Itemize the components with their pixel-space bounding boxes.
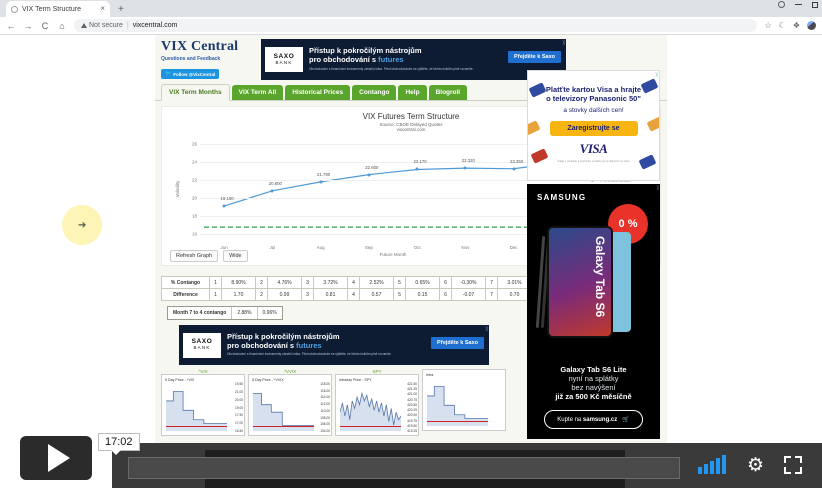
- month-index-cell: 7: [486, 277, 498, 289]
- y-axis-tick: 22: [192, 178, 197, 183]
- mini-chart-plot: [427, 379, 488, 426]
- data-point-label: 19.100: [221, 196, 234, 201]
- data-point-label: 23.170: [414, 159, 427, 164]
- close-icon[interactable]: ╳: [656, 72, 658, 77]
- mini-chart-y-tick: 19.50: [235, 382, 243, 386]
- mini-chart-y-axis: [488, 379, 504, 426]
- value-cell: -0.30%: [452, 277, 486, 289]
- table-row: % Contango18.90%24.76%33.72%42.52%50.65%…: [162, 277, 544, 289]
- tab-vix-term-months[interactable]: VIX Term Months: [161, 84, 230, 101]
- mini-chart-y-tick: 419.50: [407, 424, 417, 428]
- month-index-cell: 3: [302, 289, 314, 301]
- site-subtitle: Questions and Feedback: [161, 56, 255, 62]
- maximize-icon[interactable]: [812, 2, 818, 8]
- refresh-graph-button[interactable]: Refresh Graph: [170, 250, 218, 262]
- warning-triangle-icon: [81, 23, 87, 28]
- saxo-line2-prefix: pro obchodování s: [227, 341, 296, 350]
- mini-chart-box: Intra: [422, 369, 506, 431]
- samsung-line1: Galaxy Tab S6 Lite: [527, 365, 660, 374]
- mini-chart-plot: [340, 384, 401, 431]
- month-index-cell: 2: [256, 289, 268, 301]
- reload-icon[interactable]: C: [40, 21, 50, 31]
- row-header: % Contango: [162, 277, 210, 289]
- close-icon[interactable]: ╳: [486, 326, 488, 331]
- saxo-cta-button[interactable]: Přejděte k Saxo: [431, 337, 484, 349]
- data-point-label: 20.800: [269, 181, 282, 186]
- saxo-top-banner-ad[interactable]: ╳ SAXO BANK Přístup k pokročilým nástroj…: [261, 39, 566, 80]
- forward-icon[interactable]: →: [23, 21, 33, 31]
- saxo-logo-bottom: BANK: [193, 346, 210, 351]
- avatar[interactable]: [807, 21, 816, 30]
- saxo-logo: SAXO BANK: [183, 333, 221, 358]
- close-icon[interactable]: ╳: [563, 40, 565, 45]
- settings-dot-icon[interactable]: [778, 1, 785, 8]
- data-point[interactable]: [512, 167, 515, 170]
- value-cell: 0.57: [360, 289, 394, 301]
- minimize-icon[interactable]: [795, 4, 802, 5]
- saxo-logo-bottom: BANK: [275, 61, 292, 66]
- data-point-label: 22.600: [365, 165, 378, 170]
- month-index-cell: 1: [210, 277, 222, 289]
- video-timestamp: 17:02: [98, 433, 140, 451]
- dark-mode-icon[interactable]: ☾: [779, 21, 786, 30]
- data-point[interactable]: [271, 189, 274, 192]
- mini-chart-y-tick: 21.00: [235, 390, 243, 394]
- x-axis-tick: Dec: [510, 245, 518, 250]
- saxo-line2: pro obchodování s futures: [309, 56, 524, 65]
- samsung-cta-label: Kupte na samsung.cz: [557, 417, 617, 423]
- data-point[interactable]: [416, 168, 419, 171]
- visa-card-decoration: [527, 120, 540, 135]
- table-row: Difference11.7020.9930.8140.5750.156-0.0…: [162, 289, 544, 301]
- fullscreen-icon[interactable]: [784, 456, 802, 474]
- x-axis-tick: Aug: [317, 245, 325, 250]
- mini-chart-y-tick: 19.00: [235, 406, 243, 410]
- visa-ad[interactable]: ╳ Platťte kartou Visa a hrajte o televiz…: [527, 70, 660, 181]
- data-point-label: 23.320: [462, 158, 475, 163]
- value-cell: 0.65%: [406, 277, 440, 289]
- mini-chart-y-tick: 110.00: [320, 409, 330, 413]
- mini-chart[interactable]: ^VIX5 Day Price - ^VIX19.5021.0020.0019.…: [161, 369, 245, 436]
- tab-vix-term-all[interactable]: VIX Term All: [232, 85, 284, 100]
- value-cell: 2.52%: [360, 277, 394, 289]
- month-index-cell: 7: [486, 289, 498, 301]
- product-name-rotated: Galaxy Tab S6: [593, 236, 607, 317]
- saxo-cta-button[interactable]: Přejděte k Saxo: [508, 51, 561, 63]
- tab-historical-prices[interactable]: Historical Prices: [285, 85, 350, 100]
- value-cell: 8.90%: [222, 277, 256, 289]
- value-cell: 0.15: [406, 289, 440, 301]
- twitter-bird-icon: 🐦: [165, 71, 171, 77]
- mini-chart-y-axis: 19.5021.0020.0019.0017.5017.0016.50: [227, 384, 243, 431]
- month-index-cell: 4: [348, 277, 360, 289]
- value-cell: 4.76%: [268, 277, 302, 289]
- mini-chart-y-tick: 420.50: [407, 403, 417, 407]
- month-index-cell: 5: [394, 277, 406, 289]
- mini-chart-box: 5 Day Price - ^VVIX118.00116.00114.00112…: [248, 374, 332, 436]
- extensions-icon[interactable]: ❖: [793, 21, 800, 30]
- mini-chart-reference-line: [166, 426, 227, 427]
- saxo-disclaimer: Obchodování s finančními instrumenty obn…: [227, 353, 442, 357]
- browser-toolbar: ← → C ⌂ Not secure | vixcentral.com ☆ ☾ …: [0, 17, 822, 35]
- saxo-line2-prefix: pro obchodování s: [309, 55, 378, 64]
- data-point[interactable]: [223, 205, 226, 208]
- month-index-cell: 1: [210, 289, 222, 301]
- browser-tabstrip: VIX Term Structure × +: [0, 0, 822, 17]
- mini-chart-y-tick: 17.00: [235, 421, 243, 425]
- value-cell: 1.70: [222, 289, 256, 301]
- mini-chart-y-tick: 106.00: [320, 422, 330, 426]
- mini-chart[interactable]: ^VVIX5 Day Price - ^VVIX118.00116.00114.…: [248, 369, 332, 436]
- browser-tab[interactable]: VIX Term Structure ×: [6, 1, 110, 17]
- value-cell: 0.81: [314, 289, 348, 301]
- y-axis-tick: 18: [192, 214, 197, 219]
- month-7to4-label: Month 7 to 4 contango: [168, 307, 232, 319]
- omnibox-separator: |: [127, 22, 129, 29]
- month-7to4-value-1: 2.88%: [232, 307, 257, 319]
- mini-chart-y-tick: 421.25: [407, 387, 417, 391]
- close-icon[interactable]: ╳: [657, 185, 659, 190]
- y-axis-tick: 24: [192, 160, 197, 165]
- y-axis-tick: 20: [192, 196, 197, 201]
- mini-chart-plot: [253, 384, 314, 431]
- contango-table: % Contango18.90%24.76%33.72%42.52%50.65%…: [161, 276, 544, 301]
- x-axis-label: Future Month: [380, 252, 407, 257]
- new-tab-button[interactable]: +: [118, 4, 124, 15]
- right-ad-rail: ╳ Platťte kartou Visa a hrajte o televiz…: [527, 70, 660, 439]
- tab-title: VIX Term Structure: [22, 6, 96, 13]
- mini-chart-y-tick: 420.25: [407, 408, 417, 412]
- saxo-ad-copy: Přístup k pokročilým nástrojům pro obcho…: [309, 47, 524, 71]
- month-index-cell: 5: [394, 289, 406, 301]
- samsung-line4: již za 500 Kč měsíčně: [527, 392, 660, 401]
- y-axis-tick: 16: [192, 232, 197, 237]
- visa-card-decoration: [647, 116, 660, 131]
- twitter-follow-label: Follow @VixCentral: [173, 72, 215, 77]
- month-index-cell: 6: [440, 289, 452, 301]
- mini-chart-reference-line: [340, 426, 401, 427]
- home-icon[interactable]: ⌂: [57, 21, 67, 31]
- mouse-cursor-icon: ➔: [78, 220, 86, 231]
- visa-logo: VISA: [528, 141, 659, 157]
- gear-icon[interactable]: ⚙: [747, 456, 764, 475]
- month-index-cell: 3: [302, 277, 314, 289]
- data-point-label: 21.790: [317, 172, 330, 177]
- samsung-line2: nyní na splátky: [527, 374, 660, 383]
- tab-help[interactable]: Help: [398, 85, 426, 100]
- cart-icon: 🛒: [622, 416, 629, 423]
- visa-line2: o televizory Panasonic 50": [528, 94, 659, 103]
- mini-chart-plot: [166, 384, 227, 431]
- visa-line3: a stovky dalších cen!: [528, 107, 659, 114]
- month-index-cell: 4: [348, 289, 360, 301]
- saxo-line2: pro obchodování s futures: [227, 342, 442, 351]
- window-controls: [778, 1, 818, 8]
- mini-chart-y-axis: 118.00116.00114.00112.00110.00108.00106.…: [314, 384, 330, 431]
- mini-chart-y-tick: 421.50: [407, 382, 417, 386]
- tab-contango[interactable]: Contango: [352, 85, 396, 100]
- toolbar-actions: ☆ ☾ ❖: [764, 21, 816, 30]
- play-icon: [48, 444, 70, 472]
- signal-bars-icon[interactable]: [698, 455, 726, 474]
- mini-chart-y-tick: 420.75: [407, 398, 417, 402]
- saxo-line2-highlight: futures: [296, 341, 321, 350]
- row-header: Difference: [162, 289, 210, 301]
- mini-chart-y-tick: 419.75: [407, 419, 417, 423]
- saxo-bottom-banner-ad[interactable]: ╳ SAXO BANK Přístup k pokročilým nástroj…: [179, 325, 489, 365]
- video-player-overlay: 17:02 ⚙: [0, 432, 822, 488]
- mini-chart-y-tick: 108.00: [320, 416, 330, 420]
- mini-chart-y-tick: 20.00: [235, 398, 243, 402]
- samsung-line3: bez navýšení: [527, 383, 660, 392]
- month-7to4-value-2: 0.96%: [258, 307, 282, 319]
- value-cell: -0.07: [452, 289, 486, 301]
- url-text: vixcentral.com: [133, 22, 178, 29]
- mini-chart-box: 5 Day Price - ^VIX19.5021.0020.0019.0017…: [161, 374, 245, 436]
- tab-favicon: [11, 6, 18, 13]
- play-button[interactable]: [20, 436, 92, 480]
- mini-chart-y-tick: 114.00: [320, 395, 330, 399]
- mini-chart-y-tick: 17.50: [235, 413, 243, 417]
- data-point[interactable]: [367, 173, 370, 176]
- month-index-cell: 2: [256, 277, 268, 289]
- not-secure-badge[interactable]: Not secure: [81, 22, 123, 29]
- data-point-label: 23.250: [510, 159, 523, 164]
- mini-chart-title: Intraday Price - SPY: [339, 378, 415, 382]
- close-icon[interactable]: ×: [100, 5, 105, 13]
- mini-chart-title: Intra: [426, 373, 502, 377]
- site-brand: VIX Central Questions and Feedback 🐦 Fol…: [161, 39, 255, 80]
- wide-button[interactable]: Wide: [223, 250, 248, 262]
- month-index-cell: 6: [440, 277, 452, 289]
- not-secure-label: Not secure: [89, 22, 123, 29]
- x-axis-tick: Nov: [461, 245, 469, 250]
- y-axis-tick: 26: [192, 142, 197, 147]
- address-bar[interactable]: Not secure | vixcentral.com: [74, 19, 757, 32]
- tab-blogroll[interactable]: Blogroll: [429, 85, 468, 100]
- data-point[interactable]: [464, 167, 467, 170]
- mini-chart-y-axis: 421.50421.25421.00420.75420.50420.25420.…: [401, 384, 417, 431]
- samsung-logo: SAMSUNG: [527, 184, 660, 202]
- saxo-line2-highlight: futures: [378, 55, 403, 64]
- back-icon[interactable]: ←: [6, 21, 16, 31]
- y-axis-label: Volatility: [175, 181, 180, 198]
- value-cell: 3.72%: [314, 277, 348, 289]
- x-axis-tick: Jul: [269, 245, 275, 250]
- month-7-to-4-contango: Month 7 to 4 contango 2.88% 0.96%: [167, 306, 283, 320]
- saxo-logo: SAXO BANK: [265, 47, 303, 72]
- bookmark-star-icon[interactable]: ☆: [764, 21, 771, 30]
- mini-chart-y-tick: 421.00: [407, 392, 417, 396]
- chart-buttons: Refresh Graph Wide: [170, 250, 248, 262]
- mini-chart-y-tick: 420.00: [407, 413, 417, 417]
- x-axis-tick: Oct: [414, 245, 421, 250]
- mini-chart-title: 5 Day Price - ^VIX: [165, 378, 241, 382]
- video-seek-track[interactable]: [128, 457, 680, 479]
- visa-line1: Platťte kartou Visa a hrajte: [528, 85, 659, 94]
- browser-window: VIX Term Structure × + ← → C ⌂ Not secur…: [0, 0, 822, 488]
- mini-chart-reference-line: [427, 421, 488, 422]
- mini-chart-title: 5 Day Price - ^VVIX: [252, 378, 328, 382]
- page-viewport: VIX Central Questions and Feedback 🐦 Fol…: [0, 35, 822, 488]
- data-point[interactable]: [319, 180, 322, 183]
- samsung-cta-button[interactable]: Kupte na samsung.cz 🛒: [544, 410, 643, 429]
- mini-chart-box: Intraday Price - SPY421.50421.25421.0042…: [335, 374, 419, 436]
- mini-chart[interactable]: Intra: [422, 369, 506, 436]
- mini-chart-y-tick: 118.00: [320, 382, 330, 386]
- mini-chart-reference-line: [253, 426, 314, 427]
- twitter-follow-button[interactable]: 🐦 Follow @VixCentral: [161, 69, 219, 79]
- visa-cta-button[interactable]: Zaregistrujte se: [550, 121, 638, 136]
- mini-chart-y-tick: 116.00: [320, 389, 330, 393]
- saxo-ad-copy: Přístup k pokročilým nástrojům pro obcho…: [227, 333, 442, 357]
- mini-chart[interactable]: SPYIntraday Price - SPY421.50421.25421.0…: [335, 369, 419, 436]
- value-cell: 0.99: [268, 289, 302, 301]
- x-axis-tick: Sep: [365, 245, 373, 250]
- site-title: VIX Central: [161, 39, 255, 55]
- mini-chart-y-tick: 112.00: [320, 402, 330, 406]
- samsung-ad[interactable]: ╳ SAMSUNG 0 % Galaxy Tab S6 Galaxy Tab S…: [527, 184, 660, 439]
- saxo-disclaimer: Obchodování s finančními instrumenty obn…: [309, 68, 524, 72]
